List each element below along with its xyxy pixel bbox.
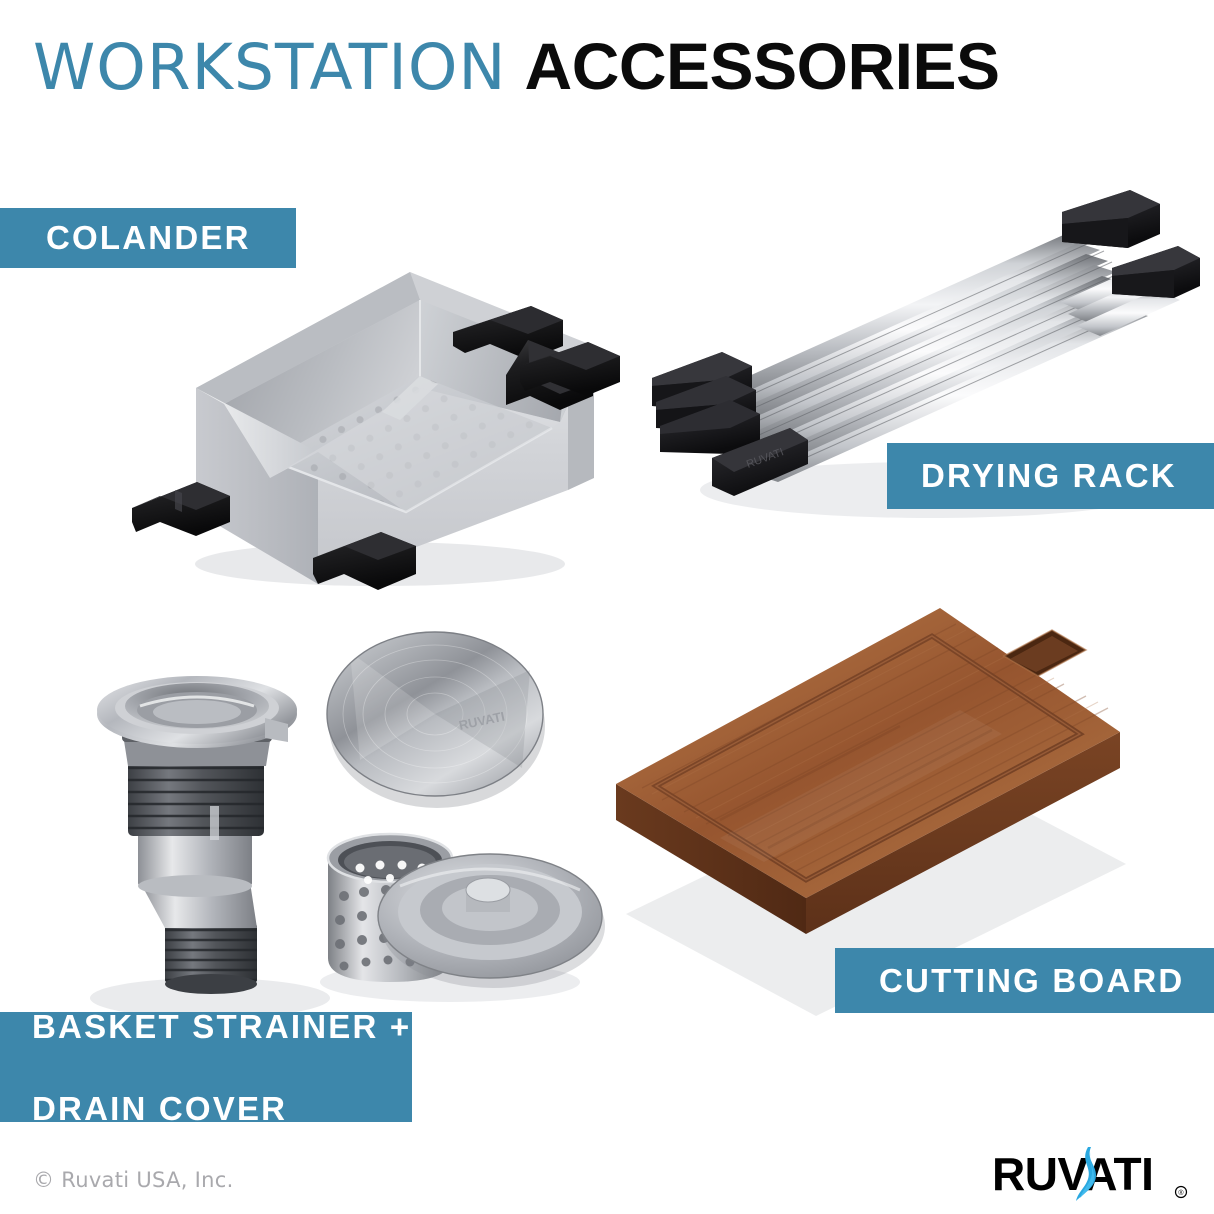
poster-canvas: WORKSTATIONACCESSORIES — [0, 0, 1214, 1214]
badge-cutting-board: CUTTING BOARD — [835, 948, 1214, 1013]
drain-cover-disc: RUVATI — [327, 632, 545, 808]
page-title-part2: ACCESSORIES — [525, 29, 1000, 103]
page-title: WORKSTATIONACCESSORIES — [33, 27, 999, 107]
drain-threads-lower — [165, 922, 257, 994]
copyright-text: © Ruvati USA, Inc. — [33, 1168, 234, 1192]
page-title-part1: WORKSTATION — [33, 31, 507, 104]
drain-body-assembly — [97, 676, 297, 994]
ruvati-logo-wordmark: RUVATI — [992, 1148, 1153, 1200]
svg-text:®: ® — [1178, 1189, 1184, 1197]
end-cap-right-top — [1062, 190, 1160, 248]
ruvati-logo: RUVATI ® — [992, 1145, 1192, 1203]
ruvati-logo-mark: RUVATI ® — [992, 1145, 1192, 1203]
badge-colander-label: COLANDER — [46, 219, 251, 257]
badge-basket-strainer-line1: BASKET STRAINER + — [32, 1006, 411, 1047]
badge-colander: COLANDER — [0, 208, 296, 268]
badge-basket-strainer-line2: DRAIN COVER — [32, 1088, 411, 1129]
badge-drying-rack: DRYING RACK — [887, 443, 1214, 509]
product-image-basket-strainer: RUVATI — [60, 610, 605, 1030]
corner-bracket-front-left — [132, 482, 230, 536]
end-cap-right-lower — [1112, 246, 1200, 298]
badge-basket-strainer-label: BASKET STRAINER + DRAIN COVER — [32, 1006, 411, 1129]
badge-drying-rack-label: DRYING RACK — [921, 457, 1177, 495]
end-cap-left — [652, 352, 760, 454]
basket-lid — [378, 854, 605, 988]
drain-threads-upper — [128, 760, 264, 840]
badge-cutting-board-label: CUTTING BOARD — [879, 962, 1184, 1000]
basket-strainer-illustration: RUVATI — [60, 610, 605, 1030]
badge-basket-strainer: BASKET STRAINER + DRAIN COVER — [0, 1012, 412, 1122]
